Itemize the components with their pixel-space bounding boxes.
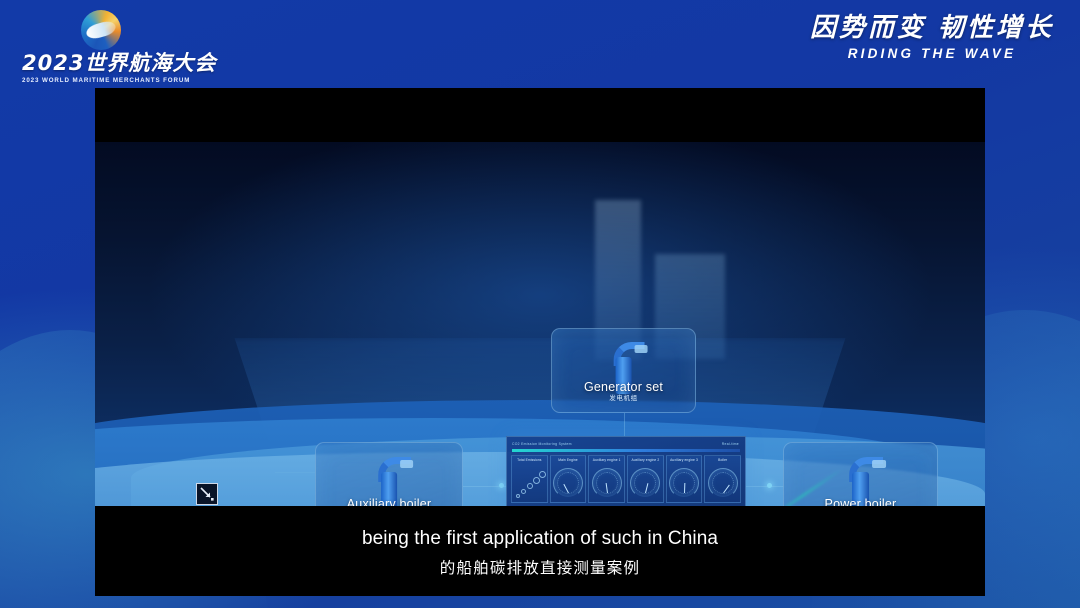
logo-subtitle: 2023 WORLD MARITIME MERCHANTS FORUM	[22, 77, 180, 84]
logo-year: 2023	[22, 51, 84, 75]
gauge-label: Auxiliary engine 3	[667, 458, 702, 462]
resize-arrow-icon[interactable]	[196, 483, 218, 505]
dashboard-status: Real-time	[722, 442, 739, 446]
video-player-area[interactable]: Generator set 发电机组 Auxiliary boiler 辅助锅炉…	[95, 88, 985, 596]
logo-title: 2023世界航海大会	[22, 52, 180, 74]
subtitle-line-cn: 的船舶碳排放直接测量案例	[95, 556, 985, 578]
connector-dashboard-to-power	[746, 486, 784, 487]
event-logo: 2023世界航海大会 2023 WORLD MARITIME MERCHANTS…	[22, 10, 180, 84]
connector-node-left	[499, 483, 504, 488]
connector-left-feed	[275, 472, 315, 473]
gauge-label: Auxiliary engine 1	[589, 458, 624, 462]
logo-title-cn: 世界航海大会	[84, 51, 216, 75]
gauge-main-engine[interactable]: Main Engine	[550, 455, 587, 503]
letterbox-top	[95, 88, 985, 142]
slide-stage: Generator set 发电机组 Auxiliary boiler 辅助锅炉…	[95, 142, 985, 506]
gauge-label: Auxiliary engine 2	[628, 458, 663, 462]
gauge-auxiliary-engine-2[interactable]: Auxiliary engine 2	[627, 455, 664, 503]
event-slogan: 因势而变 韧性增长 RIDING THE WAVE	[810, 14, 1054, 61]
gauge-label: Boiler	[705, 458, 740, 462]
gauge-boiler[interactable]: Boiler	[704, 455, 741, 503]
card-label-en: Power boiler	[784, 497, 937, 506]
equipment-card-generator-set[interactable]: Generator set 发电机组	[551, 328, 696, 413]
slogan-en: RIDING THE WAVE	[810, 46, 1054, 61]
gauge-label: Total Emissions	[512, 458, 547, 462]
gauge-auxiliary-engine-1[interactable]: Auxiliary engine 1	[588, 455, 625, 503]
dashboard-accent-bar	[512, 449, 740, 452]
subtitle-line-en: being the first application of such in C…	[95, 528, 985, 550]
equipment-card-auxiliary-boiler[interactable]: Auxiliary boiler 辅助锅炉	[315, 442, 463, 506]
gauge-row: Total Emissions Main Engine Auxiliary en…	[511, 455, 741, 503]
connector-generator-to-dashboard	[624, 413, 625, 437]
letterbox-bottom	[95, 506, 985, 596]
connector-node-right	[767, 483, 772, 488]
card-label-en: Auxiliary boiler	[316, 497, 462, 506]
gauge-auxiliary-engine-3[interactable]: Auxiliary engine 3	[666, 455, 703, 503]
equipment-card-power-boiler[interactable]: Power boiler 动力锅炉	[783, 442, 938, 506]
emission-dashboard-panel[interactable]: CO2 Emission Monitoring System Real-time…	[506, 436, 746, 506]
gauge-label: Main Engine	[551, 458, 586, 462]
card-label-cn: 发电机组	[552, 392, 695, 402]
dashboard-titlebar: CO2 Emission Monitoring System Real-time	[511, 441, 741, 447]
globe-swoosh-icon	[81, 10, 121, 50]
gauge-total-emissions[interactable]: Total Emissions	[511, 455, 548, 503]
dashboard-title: CO2 Emission Monitoring System	[512, 442, 572, 446]
slogan-cn: 因势而变 韧性增长	[810, 14, 1054, 43]
presentation-frame: 2023世界航海大会 2023 WORLD MARITIME MERCHANTS…	[0, 0, 1080, 608]
